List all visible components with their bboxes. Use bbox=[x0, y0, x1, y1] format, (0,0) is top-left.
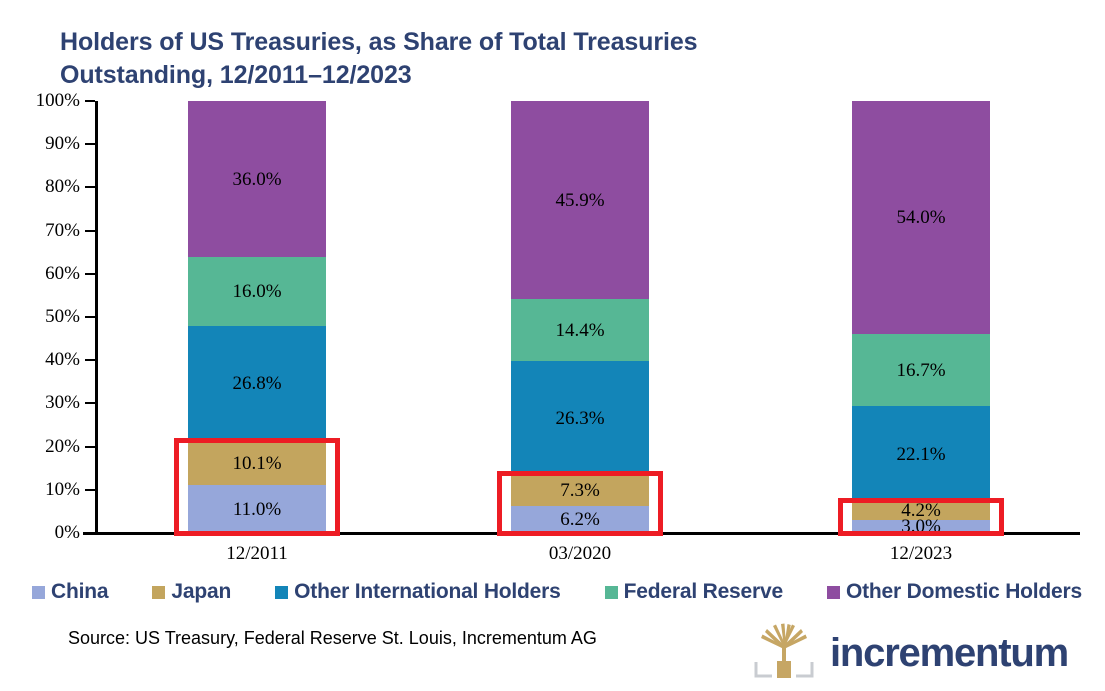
bar-segment[interactable]: 7.3% bbox=[511, 475, 649, 507]
y-axis-tick bbox=[85, 316, 95, 318]
bar-segment[interactable]: 10.1% bbox=[188, 442, 326, 486]
bar-segment-label: 22.1% bbox=[896, 445, 945, 464]
bar-segment-label: 11.0% bbox=[233, 500, 281, 519]
y-axis-tick bbox=[85, 446, 95, 448]
x-axis-category-label: 03/2020 bbox=[490, 543, 670, 565]
y-axis-tick-label: 80% bbox=[10, 177, 80, 196]
y-axis-tick bbox=[85, 402, 95, 404]
stacked-bar[interactable]: 11.0%10.1%26.8%16.0%36.0% bbox=[188, 101, 326, 533]
bar-segment[interactable]: 16.7% bbox=[852, 334, 990, 406]
bar-group[interactable]: 6.2%7.3%26.3%14.4%45.9% bbox=[511, 101, 649, 533]
bar-segment-label: 36.0% bbox=[232, 170, 281, 189]
legend-label: Federal Reserve bbox=[624, 580, 783, 604]
stacked-bar[interactable]: 3.0%4.2%22.1%16.7%54.0% bbox=[852, 101, 990, 533]
y-axis-tick-label: 30% bbox=[10, 393, 80, 412]
bar-group[interactable]: 3.0%4.2%22.1%16.7%54.0% bbox=[852, 101, 990, 533]
legend-label: Other International Holders bbox=[294, 580, 560, 604]
y-axis-tick-label: 0% bbox=[10, 523, 80, 542]
y-axis-tick-label: 70% bbox=[10, 221, 80, 240]
y-axis-tick-label: 60% bbox=[10, 264, 80, 283]
y-axis-tick-label: 40% bbox=[10, 350, 80, 369]
logo-wordmark: incrementum bbox=[830, 633, 1068, 673]
bar-segment[interactable]: 26.3% bbox=[511, 361, 649, 475]
bar-segment-label: 45.9% bbox=[555, 191, 604, 210]
page-title-line-1: Holders of US Treasuries, as Share of To… bbox=[60, 26, 960, 59]
bar-segment-label: 6.2% bbox=[560, 510, 600, 529]
y-axis-tick-label: 50% bbox=[10, 307, 80, 326]
legend-item[interactable]: Other Domestic Holders bbox=[827, 580, 1082, 604]
legend-label: Japan bbox=[171, 580, 231, 604]
x-axis-category-label: 12/2023 bbox=[831, 543, 1011, 565]
incrementum-logo: incrementum bbox=[752, 620, 1068, 685]
bar-segment[interactable]: 14.4% bbox=[511, 299, 649, 361]
bar-segment[interactable]: 6.2% bbox=[511, 506, 649, 533]
legend-item[interactable]: Other International Holders bbox=[275, 580, 560, 604]
legend-item[interactable]: China bbox=[32, 580, 108, 604]
legend-item[interactable]: Federal Reserve bbox=[605, 580, 783, 604]
legend-label: China bbox=[51, 580, 108, 604]
page-title: Holders of US Treasuries, as Share of To… bbox=[60, 26, 960, 91]
bar-segment[interactable]: 3.0% bbox=[852, 520, 990, 533]
tree-book-logo-icon bbox=[752, 620, 816, 685]
y-axis-tick bbox=[85, 359, 95, 361]
bar-segment[interactable]: 36.0% bbox=[188, 101, 326, 257]
legend-swatch-icon bbox=[275, 586, 288, 599]
bar-segment-label: 16.0% bbox=[232, 282, 281, 301]
x-axis-category-label: 12/2011 bbox=[167, 543, 347, 565]
bar-segment-label: 54.0% bbox=[896, 208, 945, 227]
y-axis-tick-label: 20% bbox=[10, 437, 80, 456]
stacked-bar[interactable]: 6.2%7.3%26.3%14.4%45.9% bbox=[511, 101, 649, 533]
source-note: Source: US Treasury, Federal Reserve St.… bbox=[68, 628, 597, 649]
bar-group[interactable]: 11.0%10.1%26.8%16.0%36.0% bbox=[188, 101, 326, 533]
page-title-line-2: Outstanding, 12/2011–12/2023 bbox=[60, 59, 960, 92]
bar-segment[interactable]: 45.9% bbox=[511, 101, 649, 299]
bar-segment-label: 14.4% bbox=[555, 321, 604, 340]
bar-segment-label: 26.8% bbox=[232, 374, 281, 393]
chart-legend: ChinaJapanOther International HoldersFed… bbox=[32, 580, 1082, 604]
bar-segment-label: 10.1% bbox=[232, 454, 281, 473]
y-axis-tick-label: 10% bbox=[10, 480, 80, 499]
bar-segment-label: 7.3% bbox=[560, 481, 600, 500]
y-axis-tick bbox=[85, 186, 95, 188]
bar-segment[interactable]: 11.0% bbox=[188, 485, 326, 533]
y-axis-tick bbox=[85, 273, 95, 275]
legend-swatch-icon bbox=[827, 586, 840, 599]
y-axis-tick bbox=[85, 230, 95, 232]
bar-segment-label: 16.7% bbox=[896, 361, 945, 380]
legend-swatch-icon bbox=[605, 586, 618, 599]
bar-segment-label: 26.3% bbox=[555, 409, 604, 428]
bar-segment[interactable]: 22.1% bbox=[852, 406, 990, 501]
bar-segment-label: 4.2% bbox=[901, 501, 941, 520]
bar-segment[interactable]: 4.2% bbox=[852, 502, 990, 520]
y-axis-tick bbox=[85, 100, 95, 102]
legend-label: Other Domestic Holders bbox=[846, 580, 1082, 604]
legend-swatch-icon bbox=[152, 586, 165, 599]
bar-segment[interactable]: 26.8% bbox=[188, 326, 326, 442]
legend-item[interactable]: Japan bbox=[152, 580, 231, 604]
y-axis-tick bbox=[85, 143, 95, 145]
y-axis-tick bbox=[85, 532, 95, 534]
bar-segment[interactable]: 16.0% bbox=[188, 257, 326, 326]
y-axis-tick-label: 100% bbox=[10, 91, 80, 110]
bar-segment[interactable]: 54.0% bbox=[852, 101, 990, 334]
y-axis-tick bbox=[85, 489, 95, 491]
legend-swatch-icon bbox=[32, 586, 45, 599]
y-axis-tick-label: 90% bbox=[10, 134, 80, 153]
